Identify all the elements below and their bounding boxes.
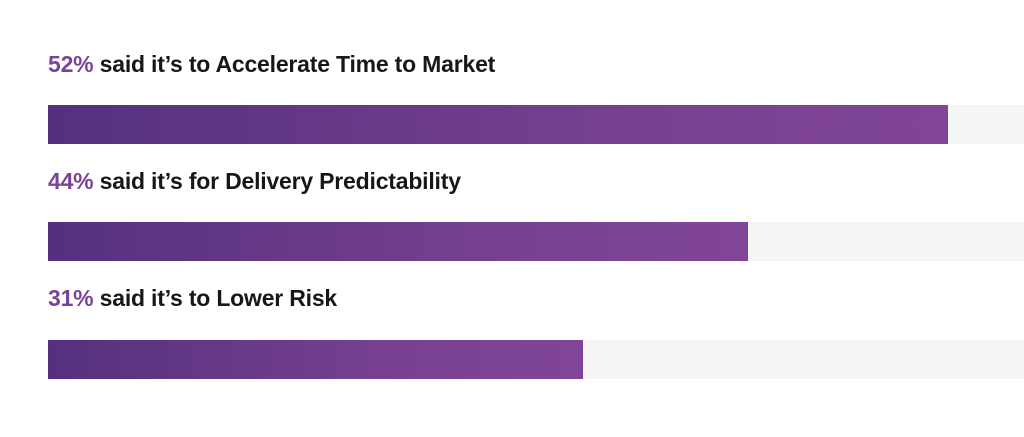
bar-fill [48,340,583,379]
stat-label: 44% said it’s for Delivery Predictabilit… [48,167,1024,195]
stat-row: 44% said it’s for Delivery Predictabilit… [48,167,1024,261]
stat-row: 52% said it’s to Accelerate Time to Mark… [48,50,1024,144]
stat-row: 31% said it’s to Lower Risk [48,284,1024,379]
stat-label: 52% said it’s to Accelerate Time to Mark… [48,50,1024,78]
bar-fill [48,222,748,261]
bar-track [48,105,1024,144]
horizontal-bar-chart: 52% said it’s to Accelerate Time to Mark… [0,0,1024,437]
stat-label-text: said it’s for Delivery Predictability [100,168,461,194]
stat-percent-value: 31% [48,285,93,311]
stat-percent-value: 52% [48,51,93,77]
stat-percent-value: 44% [48,168,93,194]
bar-track [48,222,1024,261]
stat-label-text: said it’s to Lower Risk [100,285,337,311]
bar-fill [48,105,948,144]
bar-track [48,340,1024,379]
stat-label: 31% said it’s to Lower Risk [48,284,1024,312]
stat-label-text: said it’s to Accelerate Time to Market [100,51,495,77]
